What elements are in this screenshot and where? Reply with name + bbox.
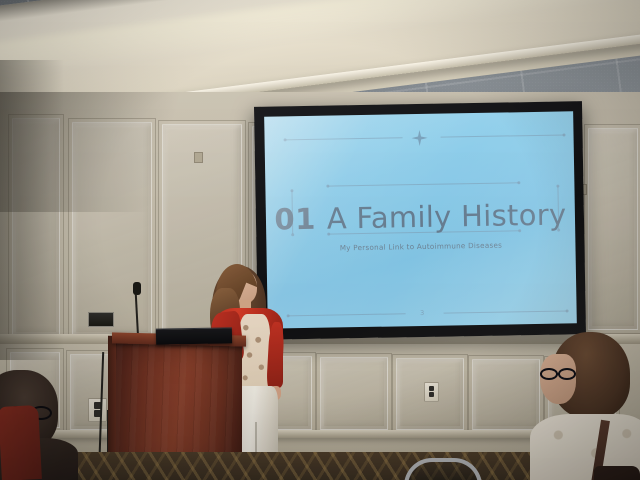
- wall-panel: [588, 128, 638, 330]
- slide-rule-top-left: [285, 137, 403, 140]
- slide-rule-cap: [517, 181, 520, 184]
- slide-rule-cap: [326, 185, 329, 188]
- shoulder-bag: [594, 466, 640, 480]
- wall-panel-lower: [320, 357, 388, 430]
- slide-rule-cap: [556, 185, 559, 188]
- wall-corner-shadow: [0, 60, 64, 360]
- sparkle-icon: [411, 130, 427, 146]
- slide-rule-top-right: [441, 134, 565, 137]
- microphone-icon: [133, 282, 141, 295]
- slide-rule-cap: [290, 189, 293, 192]
- wall-plate: [88, 312, 114, 327]
- audience-member-right: [534, 332, 640, 480]
- slide-title-row: 01 A Family History: [266, 197, 576, 236]
- wall-outlet: [88, 398, 107, 422]
- slide-page-number: 3: [268, 306, 577, 319]
- slide-title: A Family History: [327, 197, 567, 235]
- presentation-display[interactable]: 01 A Family History My Personal Link to …: [254, 101, 586, 340]
- slide-rule-cap: [284, 138, 287, 141]
- wall-outlet: [424, 382, 439, 402]
- slide-section-number: 01: [274, 202, 316, 237]
- photo-scene: 01 A Family History My Personal Link to …: [0, 0, 640, 480]
- wall-panel-lower: [472, 359, 540, 430]
- slide-content: 01 A Family History My Personal Link to …: [264, 111, 577, 328]
- slide-rule-title-top: [327, 182, 519, 186]
- slide-subtitle: My Personal Link to Autoimmune Diseases: [266, 239, 575, 253]
- slide-rule-cap: [563, 133, 566, 136]
- foreground-chair-back: [0, 405, 42, 480]
- screen-surface: 01 A Family History My Personal Link to …: [264, 111, 577, 328]
- wall-plate-small: [194, 152, 203, 163]
- laptop[interactable]: [156, 327, 232, 344]
- eyeglasses-icon: [540, 368, 576, 380]
